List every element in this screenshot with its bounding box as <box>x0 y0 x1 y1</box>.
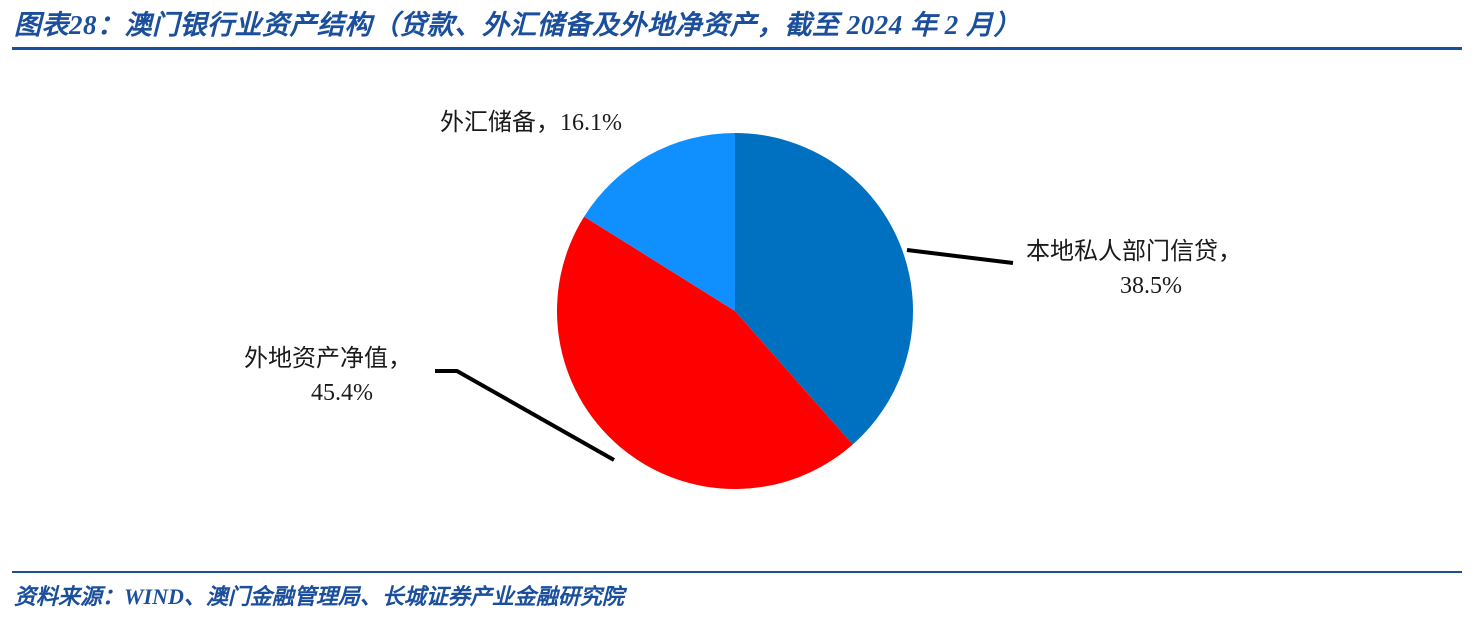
leader-line-local-private-credit <box>907 250 1013 263</box>
pie-label-net-external-assets-name: 外地资产净值， <box>244 342 440 376</box>
chart-plot-area: 外汇储备，16.1% 本地私人部门信贷， 38.5% 外地资产净值， 45.4% <box>0 50 1474 571</box>
source-note: 资料来源：WIND、澳门金融管理局、长城证券产业金融研究院 <box>14 582 624 612</box>
pie-label-net-external-assets: 外地资产净值， 45.4% <box>244 342 440 410</box>
pie-chart <box>0 50 1474 571</box>
pie-label-net-external-assets-value: 45.4% <box>244 376 440 410</box>
pie-label-local-private-credit-value: 38.5% <box>1026 269 1276 303</box>
footer-divider <box>12 571 1462 573</box>
pie-label-local-private-credit: 本地私人部门信贷， 38.5% <box>1026 235 1276 303</box>
chart-header: 图表28：澳门银行业资产结构（贷款、外汇储备及外地净资产，截至 2024 年 2… <box>0 0 1474 50</box>
page-title: 图表28：澳门银行业资产结构（贷款、外汇储备及外地净资产，截至 2024 年 2… <box>14 8 1021 42</box>
pie-label-foreign-reserves: 外汇储备，16.1% <box>440 106 622 140</box>
pie-label-local-private-credit-name: 本地私人部门信贷， <box>1026 235 1276 269</box>
